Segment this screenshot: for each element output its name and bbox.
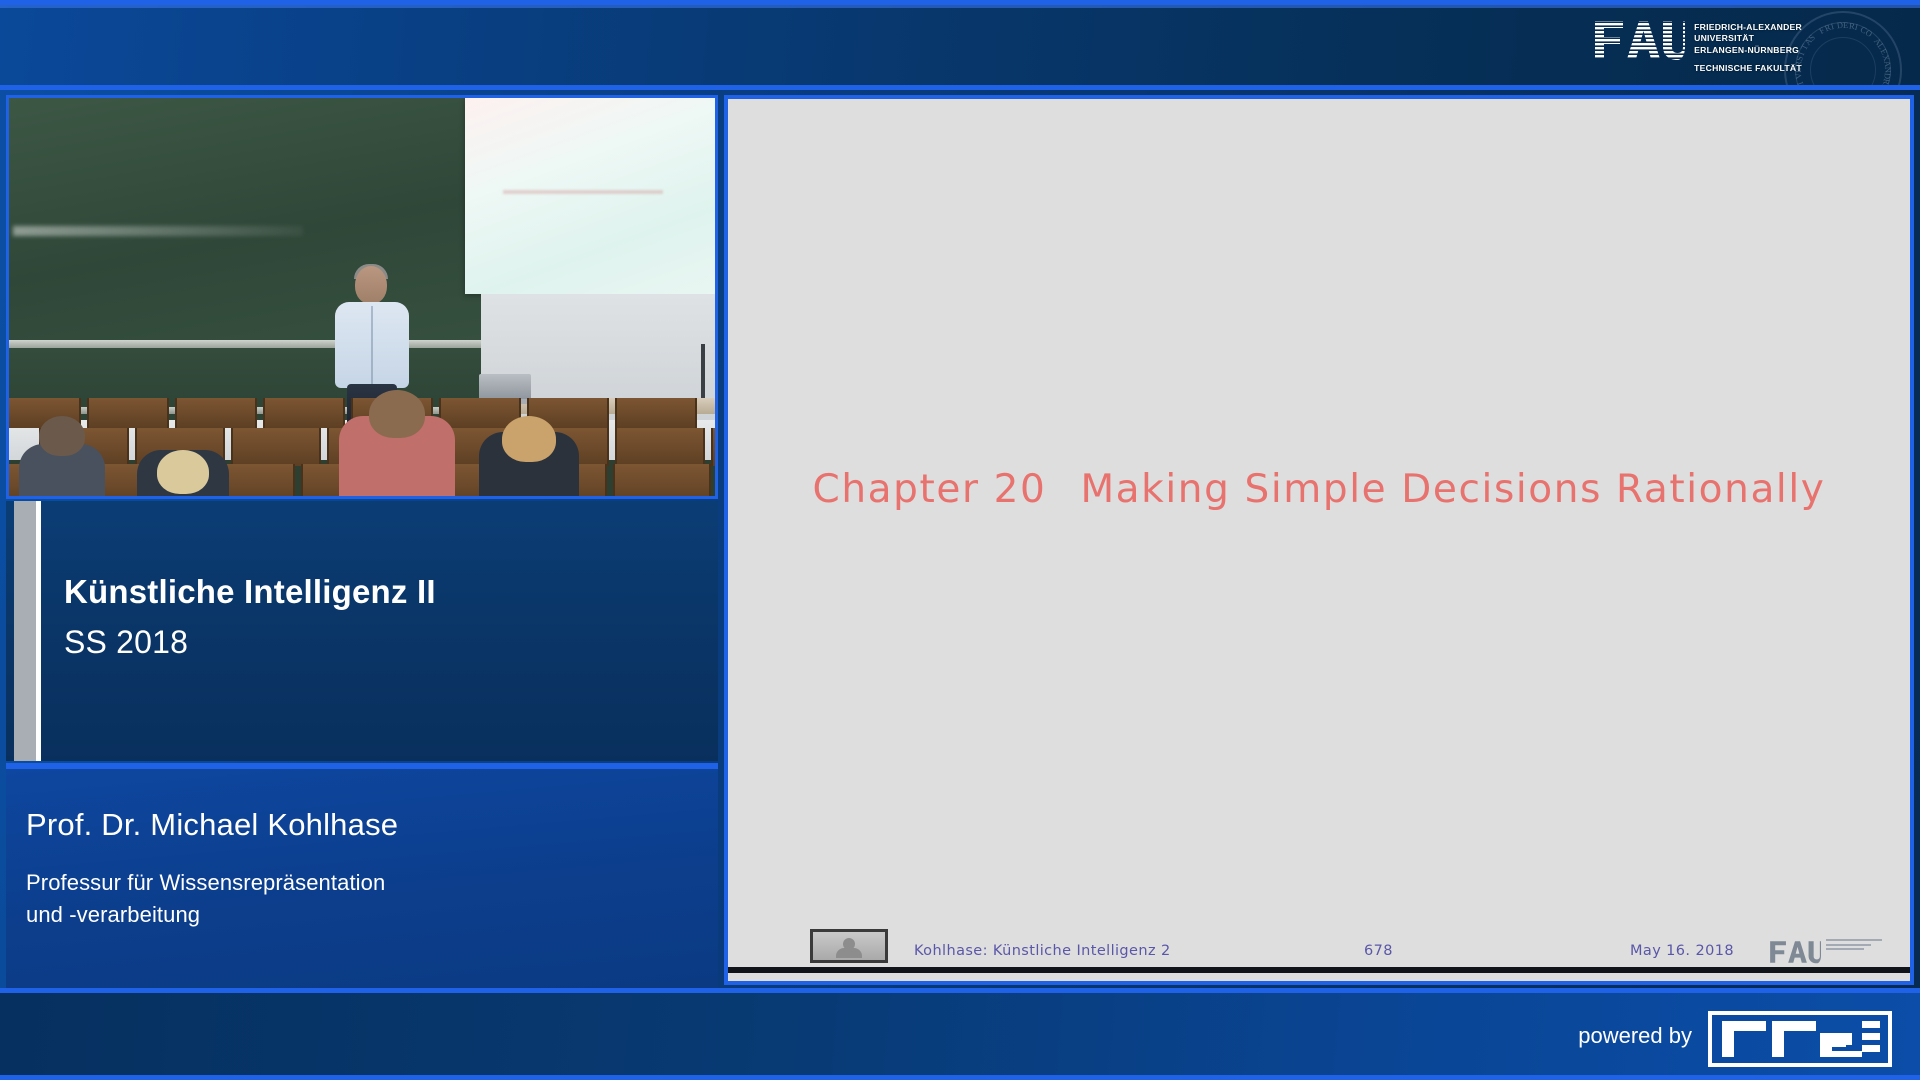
university-line-3: ERLANGEN-NÜRNBERG [1694,45,1799,55]
course-info-panel: Künstliche Intelligenz II SS 2018 [6,501,718,761]
left-column: Künstliche Intelligenz II SS 2018 Prof. … [6,95,718,985]
presenter-department: Professur für Wissensrepräsentation und … [26,867,385,931]
student-figure [339,390,455,496]
slide-footer-fau-logo [1769,939,1882,965]
course-title: Künstliche Intelligenz II [64,573,436,611]
slide-title: Chapter 20Making Simple Decisions Ration… [728,467,1910,512]
student-figure [137,450,229,496]
accent-bar-gray [14,501,36,761]
slide-title-text: Making Simple Decisions Rationally [1080,467,1825,512]
lecture-seat [615,428,705,466]
slide-footer-fau-mark-icon [1769,939,1821,965]
top-banner: FRIEDRICH-ALEXANDER UNIVERSITÄT ERLANGEN… [0,0,1920,90]
powered-by-label: powered by [1578,1023,1692,1049]
lecture-seat [263,398,345,428]
slide-footer-page-number: 678 [1364,943,1393,959]
lecture-seat [231,428,321,466]
presenter-info-panel: Prof. Dr. Michael Kohlhase Professur für… [6,769,718,993]
lecture-seat [613,464,711,496]
accent-bar-white [36,501,41,761]
student-figure [19,416,105,496]
speaker-thumbnail-icon [810,929,888,963]
slide-chapter-label: Chapter 20 [812,467,1046,512]
fau-wordmark-icon [1593,19,1685,61]
rrze-logo [1708,1011,1892,1067]
slide-footer-fau-text [1826,939,1882,953]
department-line-2: und -verarbeitung [26,902,200,927]
slide-footer-author: Kohlhase: Künstliche Intelligenz 2 [914,943,1171,959]
slide-footer: Kohlhase: Künstliche Intelligenz 2 678 M… [728,925,1910,965]
player-stage: FRIEDRICH-ALEXANDER UNIVERSITÄT ERLANGEN… [0,0,1920,1080]
lecture-hall-video[interactable] [6,95,718,499]
course-term: SS 2018 [64,624,436,661]
university-seal-watermark-icon: UNIVERSITAS FRIDERICO ALEXANDRINA [1784,11,1902,90]
lecture-seat [615,398,697,428]
fau-logo: FRIEDRICH-ALEXANDER UNIVERSITÄT ERLANGEN… [1593,19,1802,74]
lecture-seat [175,398,257,428]
slide-content: Chapter 20Making Simple Decisions Ration… [728,99,1910,981]
slide-viewer[interactable]: Chapter 20Making Simple Decisions Ration… [724,95,1914,985]
bottom-bar: powered by [0,988,1920,1080]
slide-bottom-rule [728,967,1910,973]
laptop [479,374,531,400]
student-figure [479,416,579,496]
presenter-name: Prof. Dr. Michael Kohlhase [26,807,398,843]
slide-footer-date: May 16. 2018 [1630,943,1734,959]
lecture-seat [711,428,715,466]
department-line-1: Professur für Wissensrepräsentation [26,870,385,895]
projection-screen [465,98,715,294]
university-line-2: UNIVERSITÄT [1694,33,1754,43]
